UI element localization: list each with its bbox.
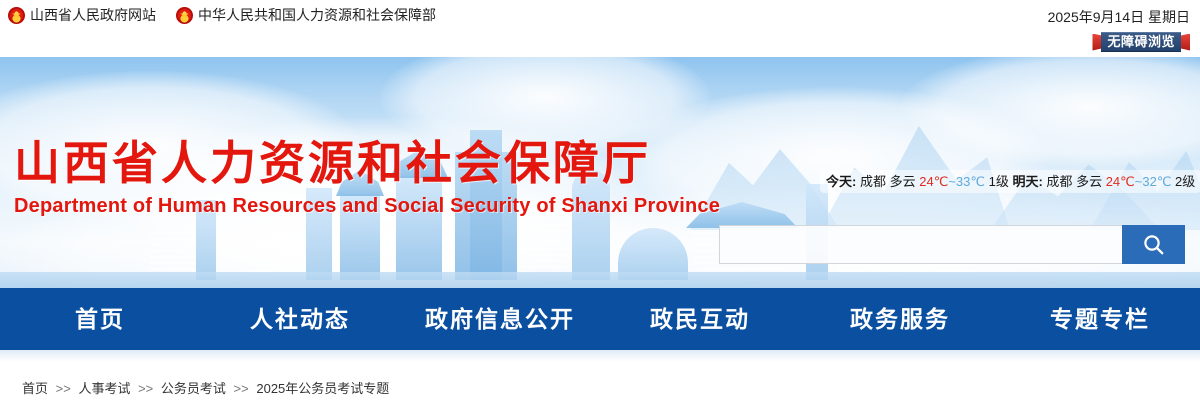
weather-today-high: 33℃	[956, 174, 985, 189]
nav-item-disclosure[interactable]: 政府信息公开	[400, 288, 600, 350]
national-emblem-icon	[8, 7, 25, 24]
weather-tomorrow-high: 32℃	[1142, 174, 1171, 189]
search-input[interactable]	[719, 225, 1122, 264]
weather-today-low: 24℃	[919, 174, 948, 189]
breadcrumb-item-home[interactable]: 首页	[22, 381, 48, 396]
weather-today-label: 今天:	[826, 174, 856, 189]
building-icon	[250, 216, 302, 280]
page-root: 山西省人民政府网站 中华人民共和国人力资源和社会保障部 2025年9月14日 星…	[0, 0, 1200, 400]
weather-tomorrow-label: 明天:	[1012, 174, 1042, 189]
ribbon-left-icon	[1092, 34, 1101, 51]
breadcrumb-item-civil-servant-exam[interactable]: 公务员考试	[161, 381, 226, 396]
weather-today-condition: 多云	[890, 174, 916, 189]
weather-today-city: 成都	[860, 174, 886, 189]
current-date: 2025年9月14日 星期日	[1048, 8, 1190, 26]
weather-today-wind: 1级	[989, 174, 1009, 189]
ground-band	[0, 272, 1200, 288]
site-search	[719, 225, 1185, 264]
weather-tomorrow-condition: 多云	[1076, 174, 1102, 189]
breadcrumb-separator: >>	[56, 381, 71, 396]
breadcrumb-separator: >>	[138, 381, 153, 396]
top-link-label: 中华人民共和国人力资源和社会保障部	[198, 6, 436, 24]
breadcrumb-item-personnel-exam[interactable]: 人事考试	[78, 381, 130, 396]
weather-tomorrow-wind: 2级	[1175, 174, 1195, 189]
weather-tomorrow-city: 成都	[1046, 174, 1072, 189]
site-title-en: Department of Human Resources and Social…	[14, 193, 720, 219]
breadcrumb: 首页 >> 人事考试 >> 公务员考试 >> 2025年公务员考试专题	[22, 380, 389, 398]
nav-shadow-band	[0, 350, 1200, 362]
main-navigation: 首页 人社动态 政府信息公开 政民互动 政务服务 专题专栏	[0, 288, 1200, 350]
national-emblem-icon	[176, 7, 193, 24]
top-link-mohrss[interactable]: 中华人民共和国人力资源和社会保障部	[176, 6, 436, 24]
nav-item-services[interactable]: 政务服务	[800, 288, 1000, 350]
weather-tomorrow-low: 24℃	[1106, 174, 1135, 189]
site-identity: 山西省人力资源和社会保障厅 Department of Human Resour…	[14, 135, 720, 219]
nav-item-news[interactable]: 人社动态	[200, 288, 400, 350]
weather-today-sep: ~	[948, 174, 956, 189]
breadcrumb-item-current: 2025年公务员考试专题	[256, 381, 389, 396]
ribbon-right-icon	[1181, 34, 1190, 51]
weather-widget: 今天: 成都 多云 24℃~33℃ 1级 明天: 成都 多云 24℃~32℃ 2…	[820, 170, 1200, 193]
accessibility-badge-label: 无障碍浏览	[1101, 32, 1181, 52]
top-bar: 山西省人民政府网站 中华人民共和国人力资源和社会保障部 2025年9月14日 星…	[0, 0, 1200, 57]
nav-item-topics[interactable]: 专题专栏	[1000, 288, 1200, 350]
top-link-label: 山西省人民政府网站	[30, 6, 156, 24]
site-banner: 山西省人力资源和社会保障厅 Department of Human Resour…	[0, 57, 1200, 288]
search-icon	[1141, 232, 1167, 258]
breadcrumb-separator: >>	[234, 381, 249, 396]
top-link-shanxi-gov[interactable]: 山西省人民政府网站	[8, 6, 156, 24]
accessibility-badge[interactable]: 无障碍浏览	[1092, 32, 1190, 52]
top-links: 山西省人民政府网站 中华人民共和国人力资源和社会保障部	[8, 6, 436, 24]
nav-item-interaction[interactable]: 政民互动	[600, 288, 800, 350]
site-title-cn: 山西省人力资源和社会保障厅	[14, 135, 720, 191]
search-button[interactable]	[1122, 225, 1185, 264]
nav-item-home[interactable]: 首页	[0, 288, 200, 350]
